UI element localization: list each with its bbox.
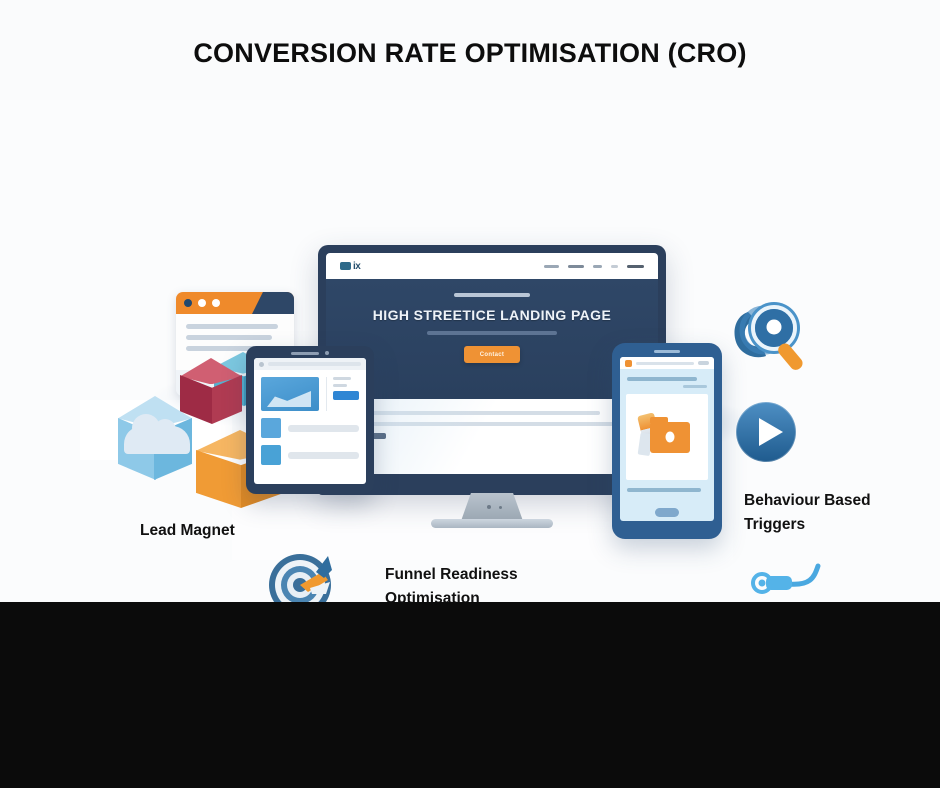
label-behaviour-triggers: Behaviour Based Triggers <box>744 489 934 537</box>
tablet-browser-bar <box>254 358 366 370</box>
label-funnel-line1: Funnel Readiness <box>385 563 585 587</box>
window-dot-icon <box>212 299 220 307</box>
site-navbar: ix <box>326 253 658 279</box>
text-line <box>627 377 697 381</box>
browser-titlebar <box>176 292 294 314</box>
monitor-screen: ix HIGH STREETICE LANDING PAGE <box>326 253 658 483</box>
hero-cta-button[interactable]: Contact <box>464 346 520 363</box>
bottom-black-band <box>0 602 940 788</box>
list-thumbnail <box>261 418 281 438</box>
phone-footer <box>620 480 714 492</box>
url-bar <box>268 362 361 366</box>
logo-text: ix <box>353 261 360 272</box>
list-item <box>254 411 366 438</box>
label-behaviour-line1: Behaviour Based <box>744 489 934 513</box>
page-title: CONVERSION RATE OPTIMISATION (CRO) <box>0 38 940 69</box>
hero-illustration: ix HIGH STREETICE LANDING PAGE <box>0 100 940 600</box>
landing-page-hero: HIGH STREETICE LANDING PAGE Contact <box>326 279 658 399</box>
feature-image <box>261 377 319 411</box>
magnifier-icon <box>722 290 818 376</box>
nav-link-item <box>611 265 618 268</box>
nav-links <box>544 265 644 268</box>
monitor-stand-base <box>431 519 553 528</box>
tablet-feature-row <box>254 370 366 411</box>
computer-mouse-icon <box>748 562 838 604</box>
label-lead-magnet-text: Lead Magnet <box>140 519 235 543</box>
tablet-cta-button[interactable] <box>333 391 359 400</box>
text-line <box>186 335 272 340</box>
play-button-icon[interactable] <box>733 400 799 466</box>
phone-speaker <box>654 350 680 353</box>
folder-icon <box>650 422 690 453</box>
url-bar <box>636 362 694 365</box>
nav-link-item <box>627 265 644 268</box>
text-line <box>333 384 347 387</box>
nav-link-item <box>568 265 584 268</box>
nav-link-item <box>593 265 602 268</box>
monitor-stand-neck <box>461 493 523 521</box>
feature-text-column <box>326 377 359 411</box>
window-dot-icon <box>184 299 192 307</box>
tablet-mockup <box>246 346 374 494</box>
app-icon <box>625 360 632 367</box>
phone-home-button[interactable] <box>655 508 679 517</box>
app-bar-action <box>698 361 709 365</box>
hero-eyebrow <box>454 293 530 297</box>
landing-page-content <box>326 399 658 483</box>
hero-subline <box>427 331 557 335</box>
list-thumbnail <box>261 445 281 465</box>
phone-header <box>620 369 714 394</box>
content-base-bar <box>326 474 658 483</box>
text-line <box>186 346 255 351</box>
hero-headline: HIGH STREETICE LANDING PAGE <box>373 307 611 323</box>
cloud-decoration <box>124 426 190 454</box>
tablet-screen <box>254 358 366 484</box>
list-item <box>254 438 366 465</box>
label-behaviour-line2: Triggers <box>744 513 934 537</box>
window-dot-icon <box>198 299 206 307</box>
nav-link-item <box>544 265 559 268</box>
text-line <box>627 488 701 492</box>
label-lead-magnet: Lead Magnet <box>140 519 235 543</box>
browser-dot-icon <box>259 362 264 367</box>
slide-canvas: CONVERSION RATE OPTIMISATION (CRO) <box>0 0 940 788</box>
logo-mark-icon <box>340 262 351 270</box>
tablet-speaker <box>291 351 329 355</box>
text-line <box>683 385 707 388</box>
text-line <box>333 377 351 380</box>
phone-app-bar <box>620 357 714 369</box>
phone-content-card <box>626 394 708 480</box>
site-logo: ix <box>340 261 360 272</box>
smartphone-mockup <box>612 343 722 539</box>
text-line <box>288 452 359 459</box>
text-line <box>186 324 278 329</box>
phone-screen <box>620 357 714 521</box>
text-line <box>288 425 359 432</box>
